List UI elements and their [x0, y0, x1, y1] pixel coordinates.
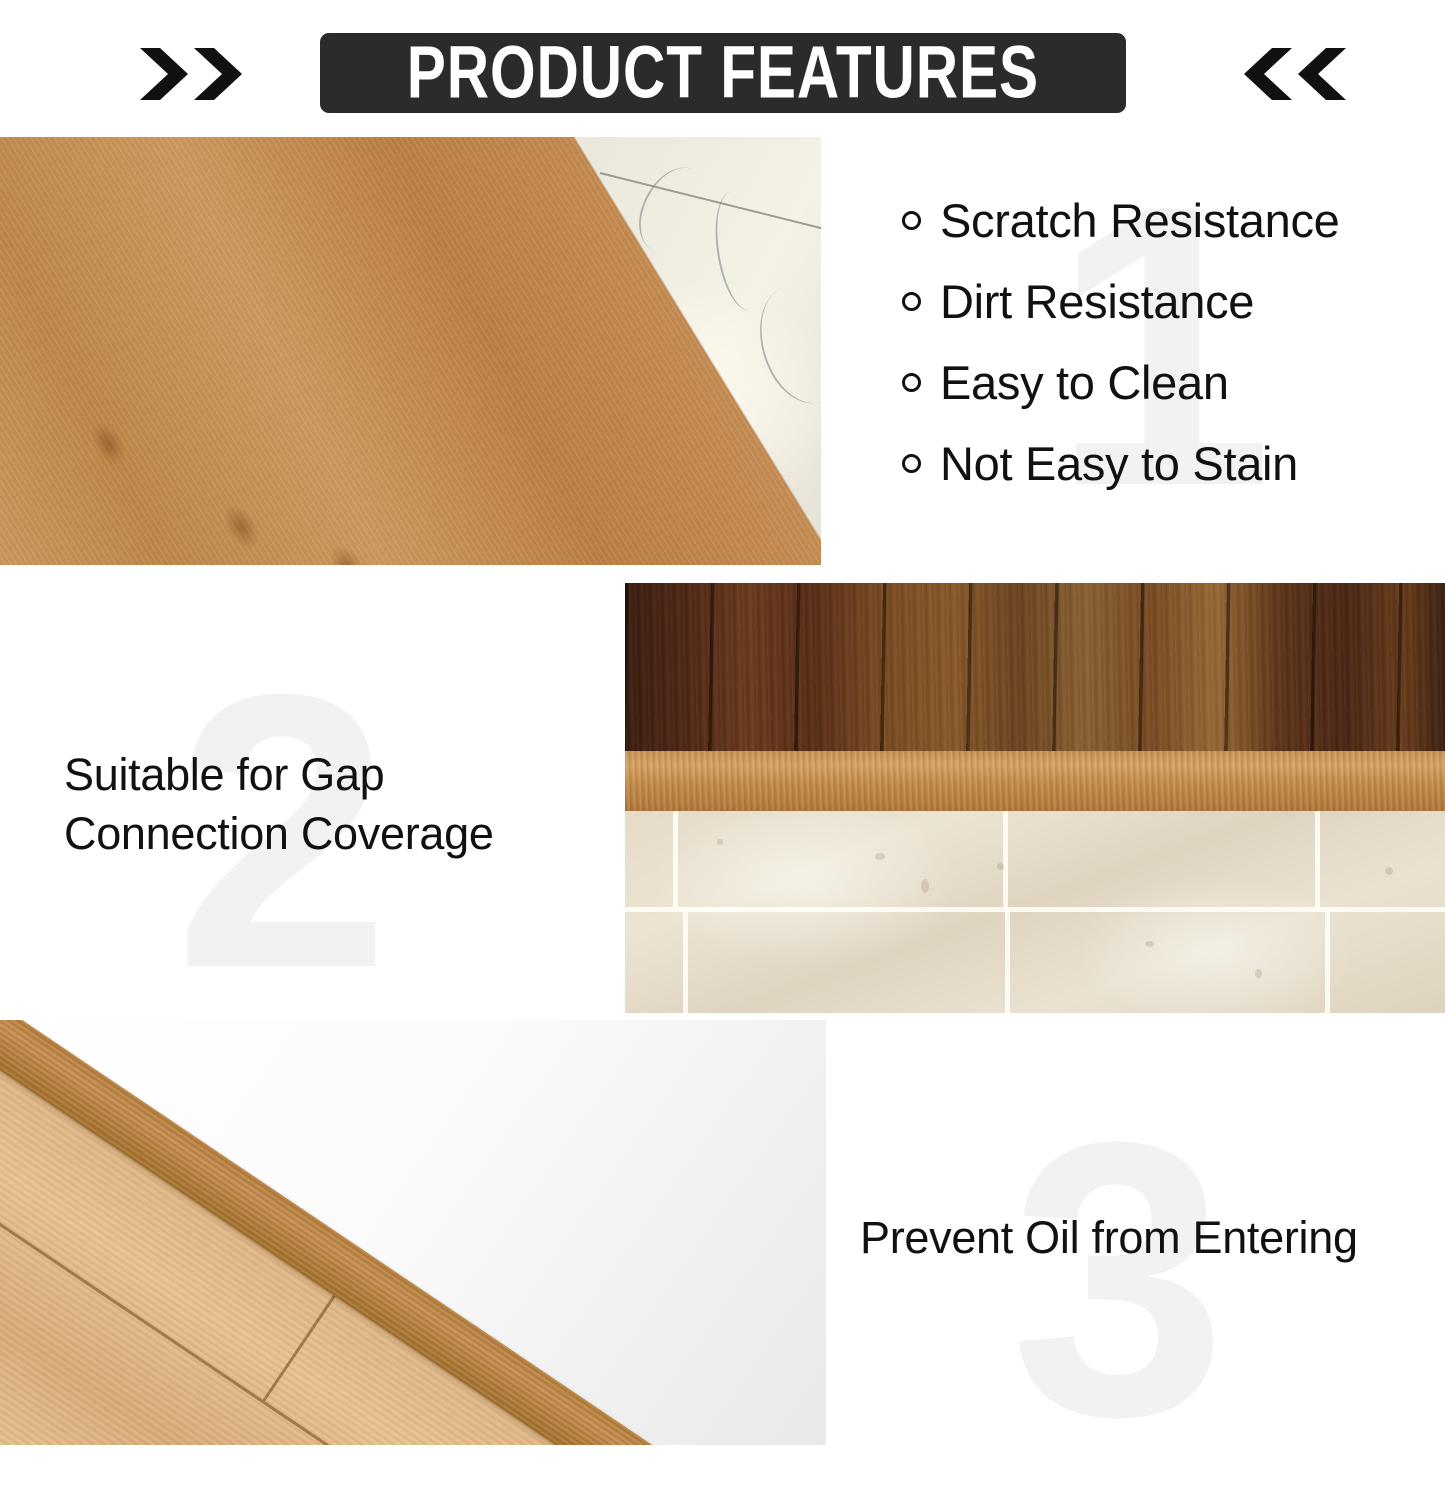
oak-transition-strip [625, 751, 1445, 813]
feature-label: Not Easy to Stain [940, 440, 1298, 487]
bullet-circle-icon [902, 211, 921, 230]
double-chevron-left-icon [1238, 44, 1348, 104]
gap-coverage-block: 2 Suitable for Gap Connection Coverage [64, 630, 594, 960]
dark-hardwood-planks [625, 583, 1445, 758]
feature-label: Scratch Resistance [940, 197, 1340, 244]
bullet-circle-icon [902, 292, 921, 311]
travertine-tile-floor [625, 811, 1445, 1013]
caption-prevent-oil: Prevent Oil from Entering [860, 1090, 1440, 1267]
list-item: Not Easy to Stain [876, 423, 1436, 504]
tile-speckle [921, 879, 929, 893]
caption-gap-coverage: Suitable for Gap Connection Coverage [64, 630, 594, 864]
prevent-oil-block: 3 Prevent Oil from Entering [860, 1090, 1440, 1420]
list-item: Easy to Clean [876, 342, 1436, 423]
tile-speckle [997, 863, 1004, 870]
tile-speckle [875, 853, 885, 860]
feature-list-block: 1 Scratch Resistance Dirt Resistance Eas… [876, 180, 1436, 530]
tile-speckle [717, 839, 723, 845]
tile-grout-line [1325, 907, 1330, 1013]
tile-grout-line [1003, 811, 1008, 907]
page-title: PRODUCT FEATURES [407, 36, 1039, 110]
tile-grout-line [673, 811, 678, 907]
bullet-circle-icon [902, 373, 921, 392]
caption-line: Suitable for Gap [64, 745, 594, 804]
photo-bamboo-transition-strip-on-marble-tile [0, 137, 821, 565]
tile-grout-line [1315, 811, 1320, 907]
photo-diagonal-oak-strip-at-white-baseboard [0, 1020, 826, 1445]
bullet-circle-icon [902, 454, 921, 473]
tile-speckle [1385, 867, 1393, 875]
caption-line: Prevent Oil from Entering [860, 1208, 1440, 1267]
photo-oak-strip-between-dark-wood-and-travertine-tile [625, 583, 1445, 1013]
tile-grout-line [683, 907, 688, 1013]
feature-label: Dirt Resistance [940, 278, 1254, 325]
caption-line: Connection Coverage [64, 804, 594, 863]
feature-list: Scratch Resistance Dirt Resistance Easy … [876, 180, 1436, 504]
header-bar: PRODUCT FEATURES [0, 0, 1445, 137]
list-item: Scratch Resistance [876, 180, 1436, 261]
tile-speckle [1255, 969, 1262, 978]
tile-grout-line [1005, 907, 1010, 1013]
double-chevron-right-icon [138, 44, 248, 104]
tile-grout-line [625, 907, 1445, 912]
product-features-badge: PRODUCT FEATURES [320, 33, 1126, 113]
feature-label: Easy to Clean [940, 359, 1229, 406]
tile-speckle [1145, 941, 1154, 947]
list-item: Dirt Resistance [876, 261, 1436, 342]
